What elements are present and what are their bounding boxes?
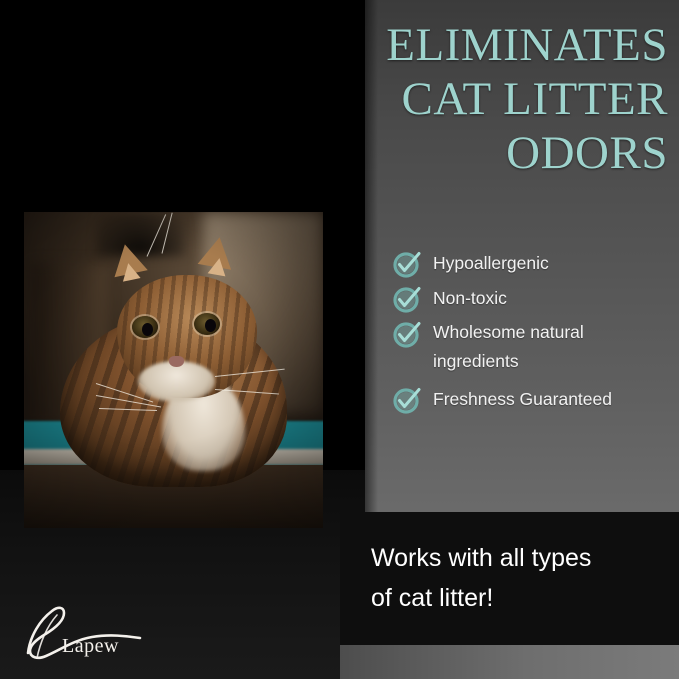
feature-label: Wholesome natural ingredients (433, 318, 584, 376)
brand-name: Lapew (62, 635, 119, 658)
headline-line-1: ELIMINATES (300, 18, 668, 72)
check-circle-icon (392, 249, 422, 279)
caption-text: Works with all types of cat litter! (371, 538, 661, 618)
feature-label-line-1: Wholesome natural (433, 322, 584, 342)
feature-item: Hypoallergenic (392, 248, 672, 279)
feature-label: Freshness Guaranteed (433, 384, 612, 414)
product-photo (24, 212, 323, 528)
product-ad-image: ELIMINATES CAT LITTER ODORS (0, 0, 679, 679)
check-circle-icon (392, 284, 422, 314)
brand-logo: Lapew (14, 598, 164, 668)
feature-item: Non-toxic (392, 283, 672, 314)
feature-label: Hypoallergenic (433, 248, 549, 278)
feature-list: Hypoallergenic Non-toxic Wh (392, 248, 672, 419)
photo-scene (24, 212, 323, 528)
feature-item: Wholesome natural ingredients (392, 318, 672, 376)
feature-label: Non-toxic (433, 283, 507, 313)
caption-line-1: Works with all types (371, 538, 661, 578)
check-circle-icon (392, 385, 422, 415)
caption-box: Works with all types of cat litter! (340, 512, 679, 645)
headline: ELIMINATES CAT LITTER ODORS (300, 18, 668, 180)
check-circle-icon (392, 319, 422, 349)
background-bottom-strip (340, 645, 679, 679)
photo-vignette (24, 212, 323, 528)
feature-item: Freshness Guaranteed (392, 384, 672, 415)
headline-line-3: ODORS (300, 126, 668, 180)
caption-line-2: of cat litter! (371, 578, 661, 618)
headline-line-2: CAT LITTER (300, 72, 668, 126)
feature-label-line-2: ingredients (433, 351, 519, 371)
